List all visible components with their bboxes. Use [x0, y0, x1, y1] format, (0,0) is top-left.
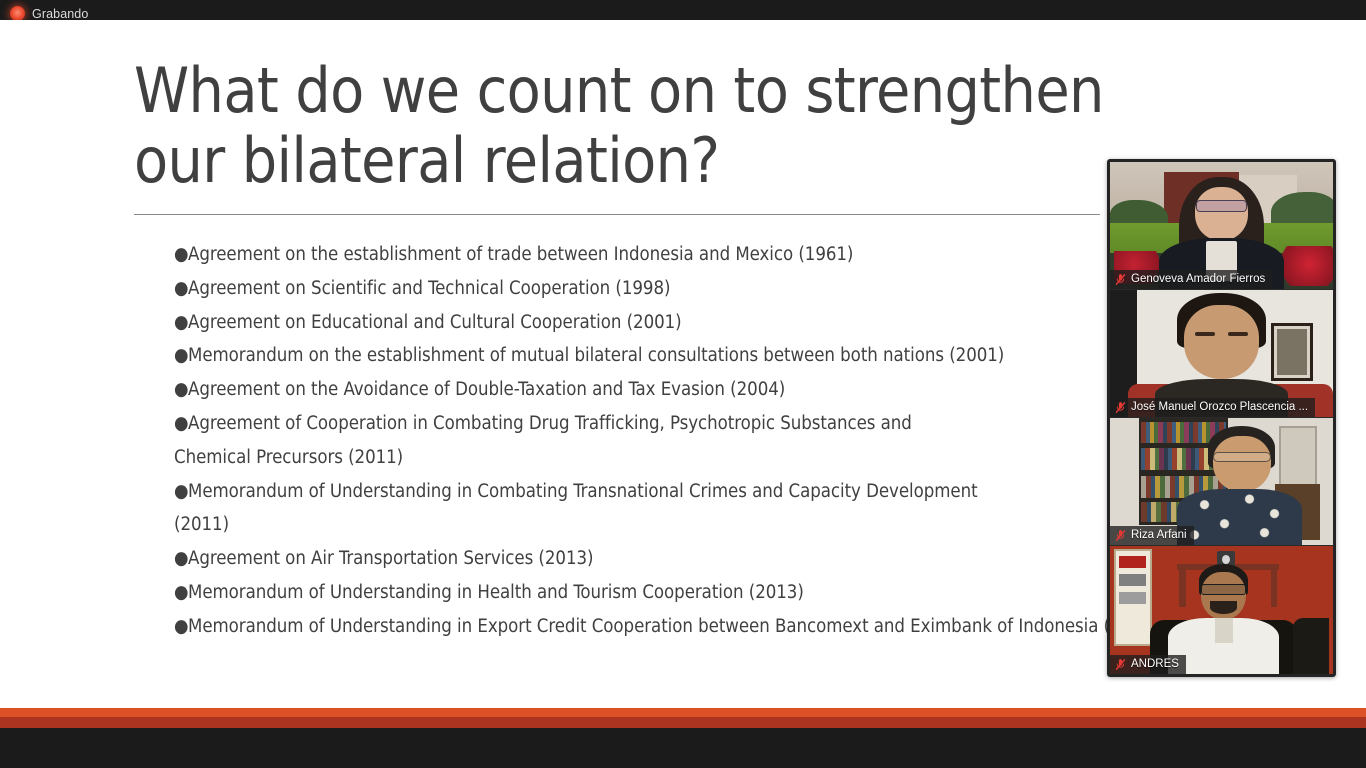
list-item-text: Agreement on the Avoidance of Double-Tax…: [188, 379, 785, 400]
list-item: ●Agreement on Scientific and Technical C…: [174, 272, 1134, 306]
bullet-icon: ●: [174, 238, 188, 272]
slide-accent-band-red: [0, 717, 1366, 728]
list-item: ●Agreement of Cooperation in Combating D…: [174, 407, 1134, 441]
mic-muted-icon: [1115, 401, 1126, 414]
list-item: ●Memorandum of Understanding in Combatin…: [174, 475, 1134, 509]
recording-dot-icon: [10, 6, 25, 21]
participant-nameplate: Riza Arfani: [1110, 526, 1194, 545]
list-item-text: Memorandum on the establishment of mutua…: [188, 345, 1004, 366]
bullet-icon: ●: [174, 306, 188, 340]
mic-muted-icon: [1115, 658, 1126, 671]
slide-accent-band-orange: [0, 708, 1366, 717]
bullet-icon: ●: [174, 475, 188, 509]
participant-name: Riza Arfani: [1131, 528, 1187, 542]
list-item-text: Agreement on Educational and Cultural Co…: [188, 312, 682, 333]
slide-bullet-list: ●Agreement on the establishment of trade…: [174, 238, 1134, 644]
list-item: ●Memorandum of Understanding in Export C…: [174, 610, 1134, 644]
bullet-icon: ●: [174, 272, 188, 306]
participant-name: ANDRES: [1131, 657, 1179, 671]
list-item: ●Agreement on Air Transportation Service…: [174, 542, 1134, 576]
bullet-icon: ●: [174, 542, 188, 576]
list-item-wrapped-line: (2011): [174, 508, 1134, 542]
list-item-text: Agreement of Cooperation in Combating Dr…: [188, 413, 912, 434]
bullet-icon: ●: [174, 373, 188, 407]
list-item-text: Memorandum of Understanding in Combating…: [188, 481, 978, 502]
slide-title: What do we count on to strengthen our bi…: [134, 56, 1144, 196]
list-item: ●Memorandum on the establishment of mutu…: [174, 339, 1134, 373]
list-item-text: Agreement on Scientific and Technical Co…: [188, 278, 670, 299]
list-item: ●Agreement on Educational and Cultural C…: [174, 306, 1134, 340]
meeting-screen-share-window: Grabando What do we count on to strength…: [0, 0, 1366, 768]
participant-nameplate: José Manuel Orozco Plascencia ...: [1110, 398, 1315, 417]
bullet-icon: ●: [174, 407, 188, 441]
list-item-text: Agreement on Air Transportation Services…: [188, 548, 593, 569]
mic-muted-icon: [1115, 529, 1126, 542]
list-item-text: Memorandum of Understanding in Health an…: [188, 582, 804, 603]
participant-video-filmstrip[interactable]: Genoveva Amador Fierros José Manuel Oroz…: [1107, 159, 1336, 677]
window-footer: [0, 728, 1366, 768]
list-item: ●Memorandum of Understanding in Health a…: [174, 576, 1134, 610]
list-item-text: Agreement on the establishment of trade …: [188, 244, 853, 265]
participant-name: Genoveva Amador Fierros: [1131, 272, 1265, 286]
participant-nameplate: Genoveva Amador Fierros: [1110, 270, 1272, 289]
list-item-wrapped-line: Chemical Precursors (2011): [174, 441, 1134, 475]
recording-label: Grabando: [32, 7, 88, 21]
participant-name: José Manuel Orozco Plascencia ...: [1131, 400, 1308, 414]
bullet-icon: ●: [174, 339, 188, 373]
mic-muted-icon: [1115, 273, 1126, 286]
bullet-icon: ●: [174, 576, 188, 610]
participant-tile[interactable]: Riza Arfani: [1110, 418, 1333, 546]
participant-tile[interactable]: ANDRES: [1110, 546, 1333, 674]
participant-nameplate: ANDRES: [1110, 655, 1186, 674]
list-item: ●Agreement on the establishment of trade…: [174, 238, 1134, 272]
recording-indicator[interactable]: Grabando: [10, 6, 88, 21]
list-item: ●Agreement on the Avoidance of Double-Ta…: [174, 373, 1134, 407]
participant-tile[interactable]: José Manuel Orozco Plascencia ...: [1110, 290, 1333, 418]
recording-bar: Grabando: [0, 0, 1366, 21]
bullet-icon: ●: [174, 610, 188, 644]
title-divider: [134, 214, 1100, 215]
list-item-text: Memorandum of Understanding in Export Cr…: [188, 616, 1121, 637]
participant-tile[interactable]: Genoveva Amador Fierros: [1110, 162, 1333, 290]
